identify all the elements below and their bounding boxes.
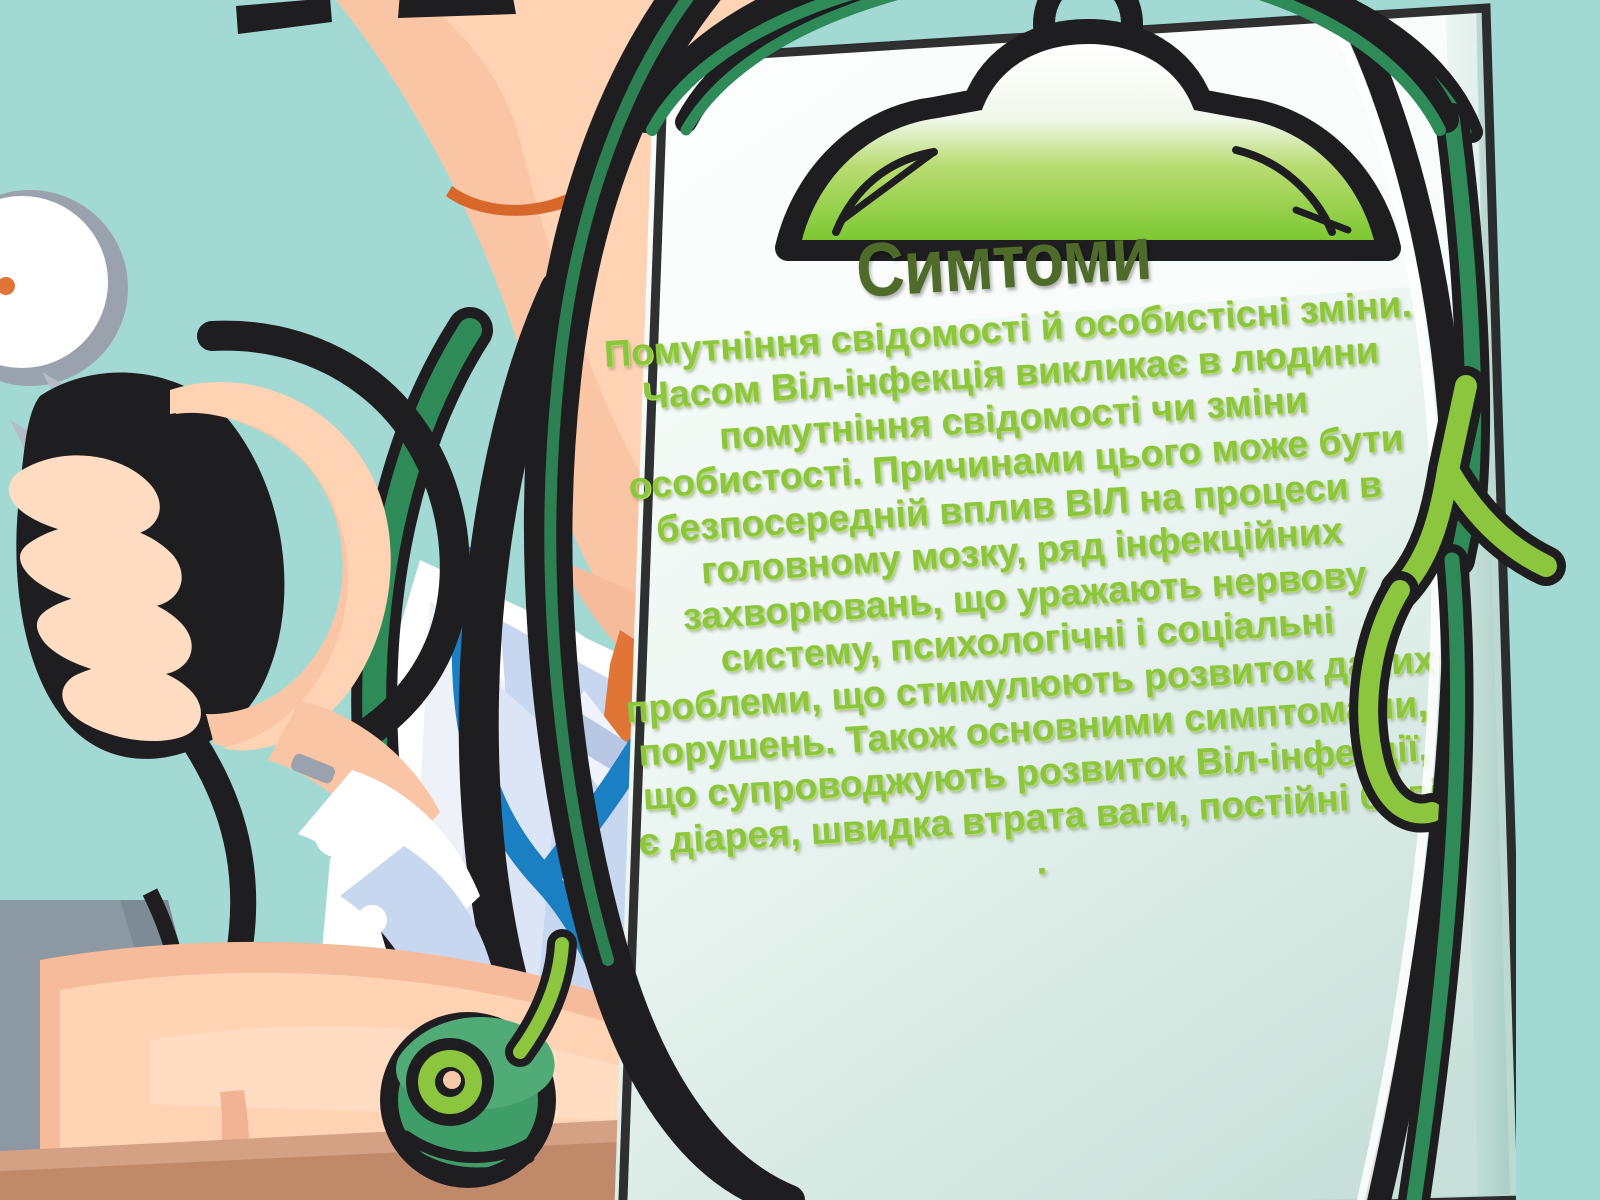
slide-canvas: Симтоми Помутніння свідомості й особисті… [0,0,1600,1200]
clipboard [536,0,1516,1200]
